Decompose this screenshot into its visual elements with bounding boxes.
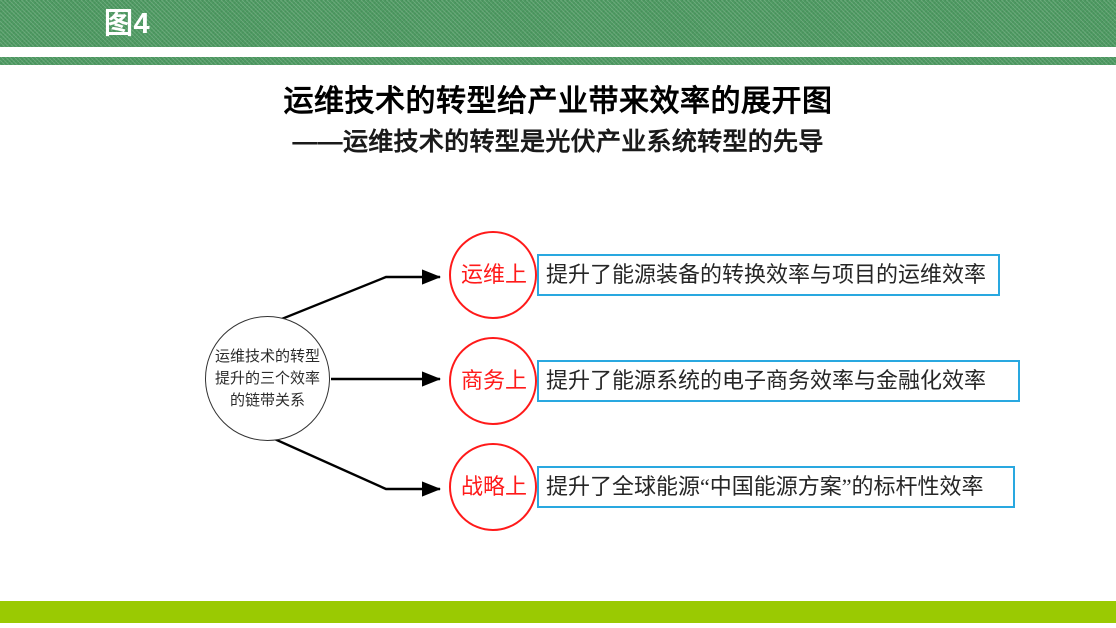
connector-lines [0, 0, 1116, 628]
bottom-band [0, 601, 1116, 623]
branch-description-box[interactable]: 提升了能源系统的电子商务效率与金融化效率 [537, 360, 1020, 402]
branch-description-text: 提升了能源装备的转换效率与项目的运维效率 [539, 261, 986, 289]
diagram-canvas: 运维技术的转型 提升的三个效率 的链带关系 运维上 提升了能源装备的转换效率与项… [0, 0, 1116, 628]
branch-description-text: 提升了能源系统的电子商务效率与金融化效率 [539, 367, 986, 395]
branch-description-box[interactable]: 提升了能源装备的转换效率与项目的运维效率 [537, 254, 1000, 296]
branch-node-label: 战略上 [461, 474, 527, 500]
hub-node-label: 运维技术的转型 提升的三个效率 的链带关系 [215, 346, 320, 412]
branch-description-text: 提升了全球能源“中国能源方案”的标杆性效率 [539, 473, 984, 501]
branch-node-label: 运维上 [461, 262, 527, 288]
branch-description-box[interactable]: 提升了全球能源“中国能源方案”的标杆性效率 [537, 466, 1015, 508]
hub-node[interactable]: 运维技术的转型 提升的三个效率 的链带关系 [205, 316, 330, 441]
branch-node-label: 商务上 [461, 368, 527, 394]
